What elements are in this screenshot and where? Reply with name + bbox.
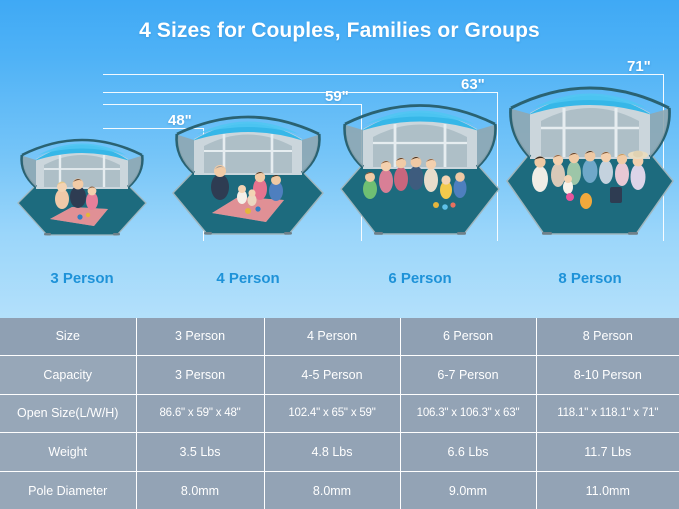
dimension-label-63: 63" <box>461 76 485 93</box>
table-header-row: Size 3 Person 4 Person 6 Person 8 Person <box>0 318 679 355</box>
product-size-comparison-infographic: 4 Sizes for Couples, Families or Groups … <box>0 0 679 509</box>
table-row-pole-diameter: Pole Diameter 8.0mm 8.0mm 9.0mm 11.0mm <box>0 472 679 509</box>
hero-sky-panel: 4 Sizes for Couples, Families or Groups … <box>0 0 679 318</box>
tent-image-4-person <box>168 105 328 242</box>
table-row-open-size: Open Size(L/W/H) 86.6" x 59" x 48" 102.4… <box>0 394 679 433</box>
page-title: 4 Sizes for Couples, Families or Groups <box>0 19 679 43</box>
cell-open-size-8-person: 118.1" x 118.1" x 71" <box>536 394 679 433</box>
specification-table: Size 3 Person 4 Person 6 Person 8 Person… <box>0 318 679 509</box>
cell-weight-4-person: 4.8 Lbs <box>264 433 400 472</box>
cell-pole-diameter-6-person: 9.0mm <box>400 472 536 509</box>
row-label-capacity: Capacity <box>0 355 136 394</box>
cell-capacity-8-person: 8-10 Person <box>536 355 679 394</box>
cell-capacity-3-person: 3 Person <box>136 355 264 394</box>
table-header-cell-6-person: 6 Person <box>400 318 536 355</box>
tent-image-3-person <box>14 129 150 242</box>
tent-image-6-person <box>336 93 504 242</box>
row-label-pole-diameter: Pole Diameter <box>0 472 136 509</box>
row-label-open-size: Open Size(L/W/H) <box>0 394 136 433</box>
tent-caption-6-person: 6 Person <box>336 270 504 287</box>
tent-image-8-person <box>502 75 678 242</box>
tent-caption-8-person: 8 Person <box>502 270 678 287</box>
table-row-capacity: Capacity 3 Person 4-5 Person 6-7 Person … <box>0 355 679 394</box>
cell-open-size-4-person: 102.4" x 65" x 59" <box>264 394 400 433</box>
cell-open-size-3-person: 86.6" x 59" x 48" <box>136 394 264 433</box>
table-header-cell-4-person: 4 Person <box>264 318 400 355</box>
table-row-weight: Weight 3.5 Lbs 4.8 Lbs 6.6 Lbs 11.7 Lbs <box>0 433 679 472</box>
cell-capacity-6-person: 6-7 Person <box>400 355 536 394</box>
cell-pole-diameter-4-person: 8.0mm <box>264 472 400 509</box>
cell-weight-6-person: 6.6 Lbs <box>400 433 536 472</box>
cell-pole-diameter-3-person: 8.0mm <box>136 472 264 509</box>
cell-weight-3-person: 3.5 Lbs <box>136 433 264 472</box>
table-header-cell-size: Size <box>0 318 136 355</box>
tent-caption-3-person: 3 Person <box>14 270 150 287</box>
cell-weight-8-person: 11.7 Lbs <box>536 433 679 472</box>
row-label-weight: Weight <box>0 433 136 472</box>
dimension-label-71: 71" <box>627 58 651 75</box>
cell-open-size-6-person: 106.3" x 106.3" x 63" <box>400 394 536 433</box>
tent-caption-4-person: 4 Person <box>168 270 328 287</box>
cell-capacity-4-person: 4-5 Person <box>264 355 400 394</box>
table-header-cell-3-person: 3 Person <box>136 318 264 355</box>
table-header-cell-8-person: 8 Person <box>536 318 679 355</box>
cell-pole-diameter-8-person: 11.0mm <box>536 472 679 509</box>
